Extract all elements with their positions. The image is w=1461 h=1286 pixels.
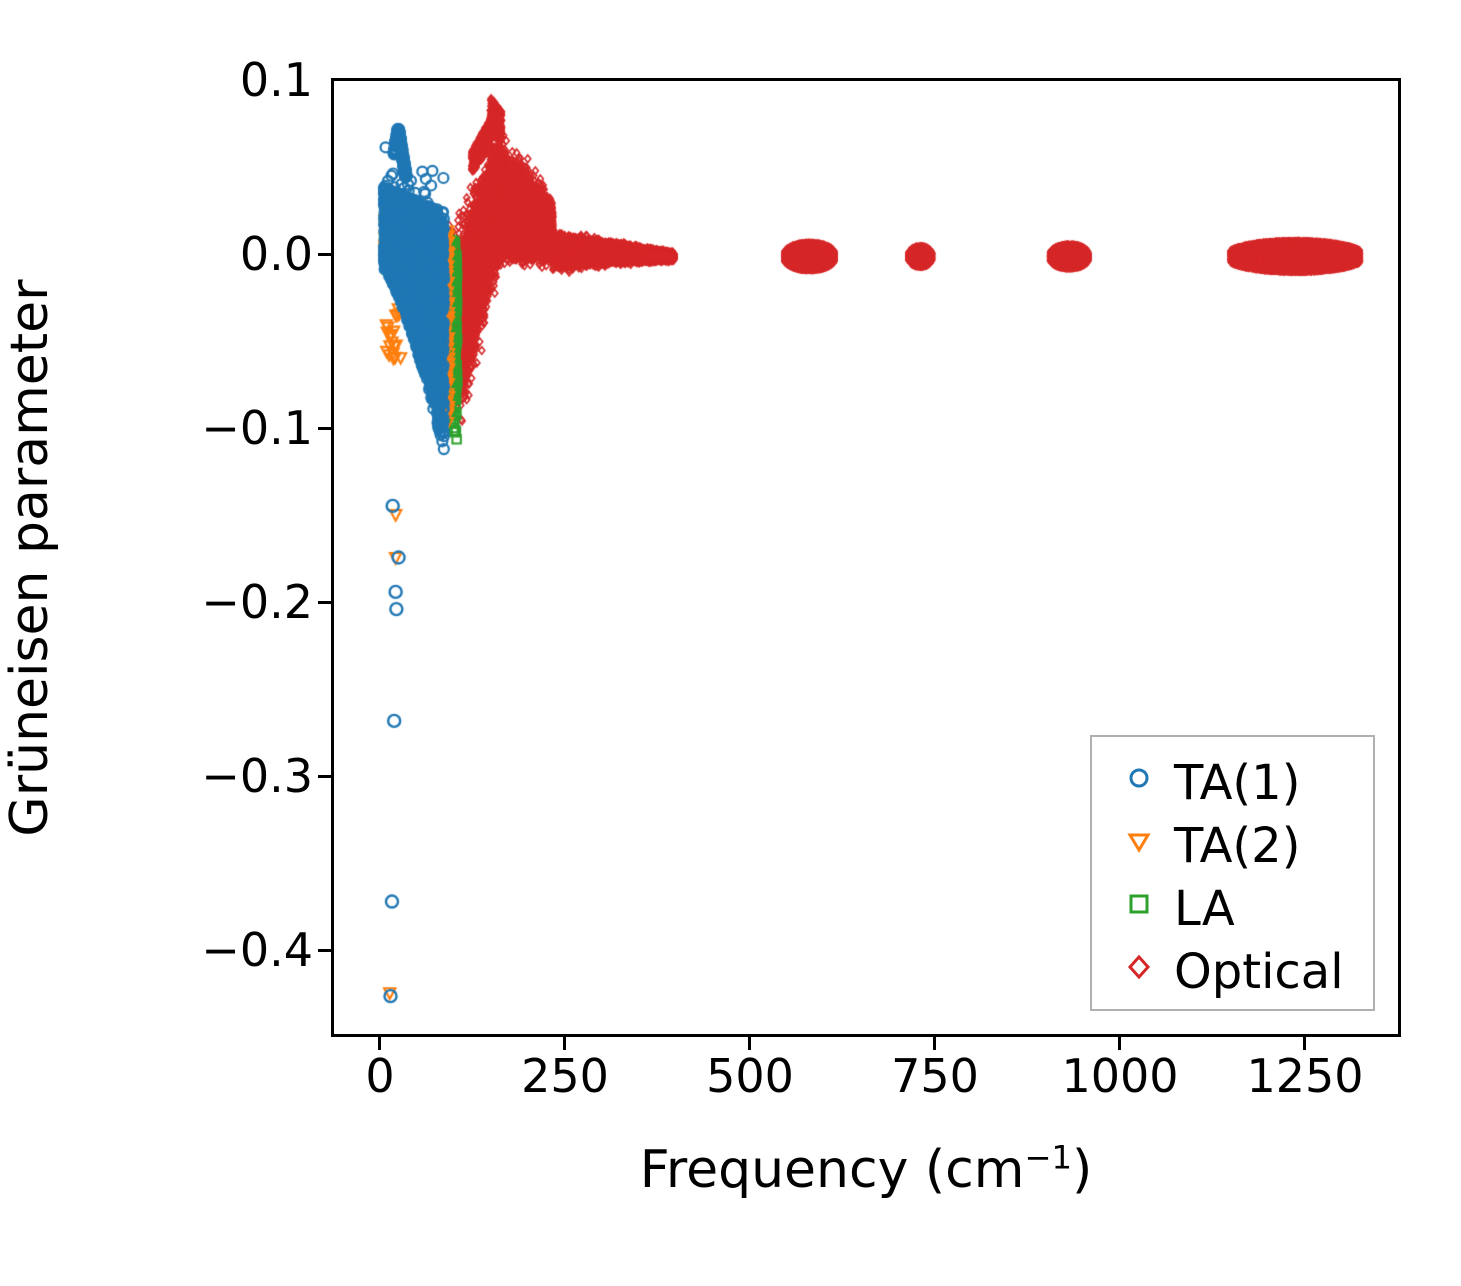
y-tick-label-1: 0.0	[240, 230, 313, 278]
x-tick-label-3: 750	[891, 1052, 979, 1100]
legend-box[interactable]: TA(1) TA(2) LA Optical	[1090, 735, 1375, 1011]
legend-label-ta1: TA(1)	[1166, 759, 1300, 807]
figure-canvas: Grüneisen parameter 0.1 0.0 −0.1 −0.2 −0…	[0, 0, 1461, 1286]
legend-entry-ta1[interactable]: TA(1)	[1092, 751, 1373, 814]
x-axis-label-exponent: −1	[1024, 1139, 1072, 1177]
square-open-icon	[1112, 889, 1166, 929]
x-tick-label-5: 1250	[1246, 1052, 1363, 1100]
legend-label-la: LA	[1166, 885, 1235, 933]
y-tick-label-0: 0.1	[240, 56, 313, 104]
y-tick-mark-1	[318, 427, 331, 430]
y-axis-label: Grüneisen parameter	[0, 78, 60, 1038]
x-tick-label-0: 0	[365, 1052, 394, 1100]
y-tick-label-2: −0.1	[201, 404, 313, 452]
circle-open-icon	[1112, 763, 1166, 803]
x-axis-label: Frequency (cm−1)	[331, 1140, 1401, 1200]
y-tick-mark-4	[318, 949, 331, 952]
x-tick-label-1: 250	[521, 1052, 609, 1100]
y-tick-mark-2	[318, 601, 331, 604]
y-tick-label-4: −0.3	[201, 752, 313, 800]
diamond-open-icon	[1112, 952, 1166, 992]
triangle-down-open-icon	[1112, 826, 1166, 866]
y-tick-mark-0	[318, 253, 331, 256]
x-tick-label-4: 1000	[1061, 1052, 1178, 1100]
legend-entry-la[interactable]: LA	[1092, 877, 1373, 940]
legend-entry-ta2[interactable]: TA(2)	[1092, 814, 1373, 877]
y-tick-label-3: −0.2	[201, 578, 313, 626]
y-tick-label-5: −0.4	[201, 926, 313, 974]
legend-entry-optical[interactable]: Optical	[1092, 940, 1373, 1003]
x-axis-label-tail: )	[1072, 1140, 1092, 1200]
legend-label-ta2: TA(2)	[1166, 822, 1300, 870]
legend-label-optical: Optical	[1166, 948, 1344, 996]
x-axis-label-base: Frequency (cm	[640, 1140, 1025, 1200]
x-tick-label-2: 500	[706, 1052, 794, 1100]
y-tick-mark-3	[318, 775, 331, 778]
